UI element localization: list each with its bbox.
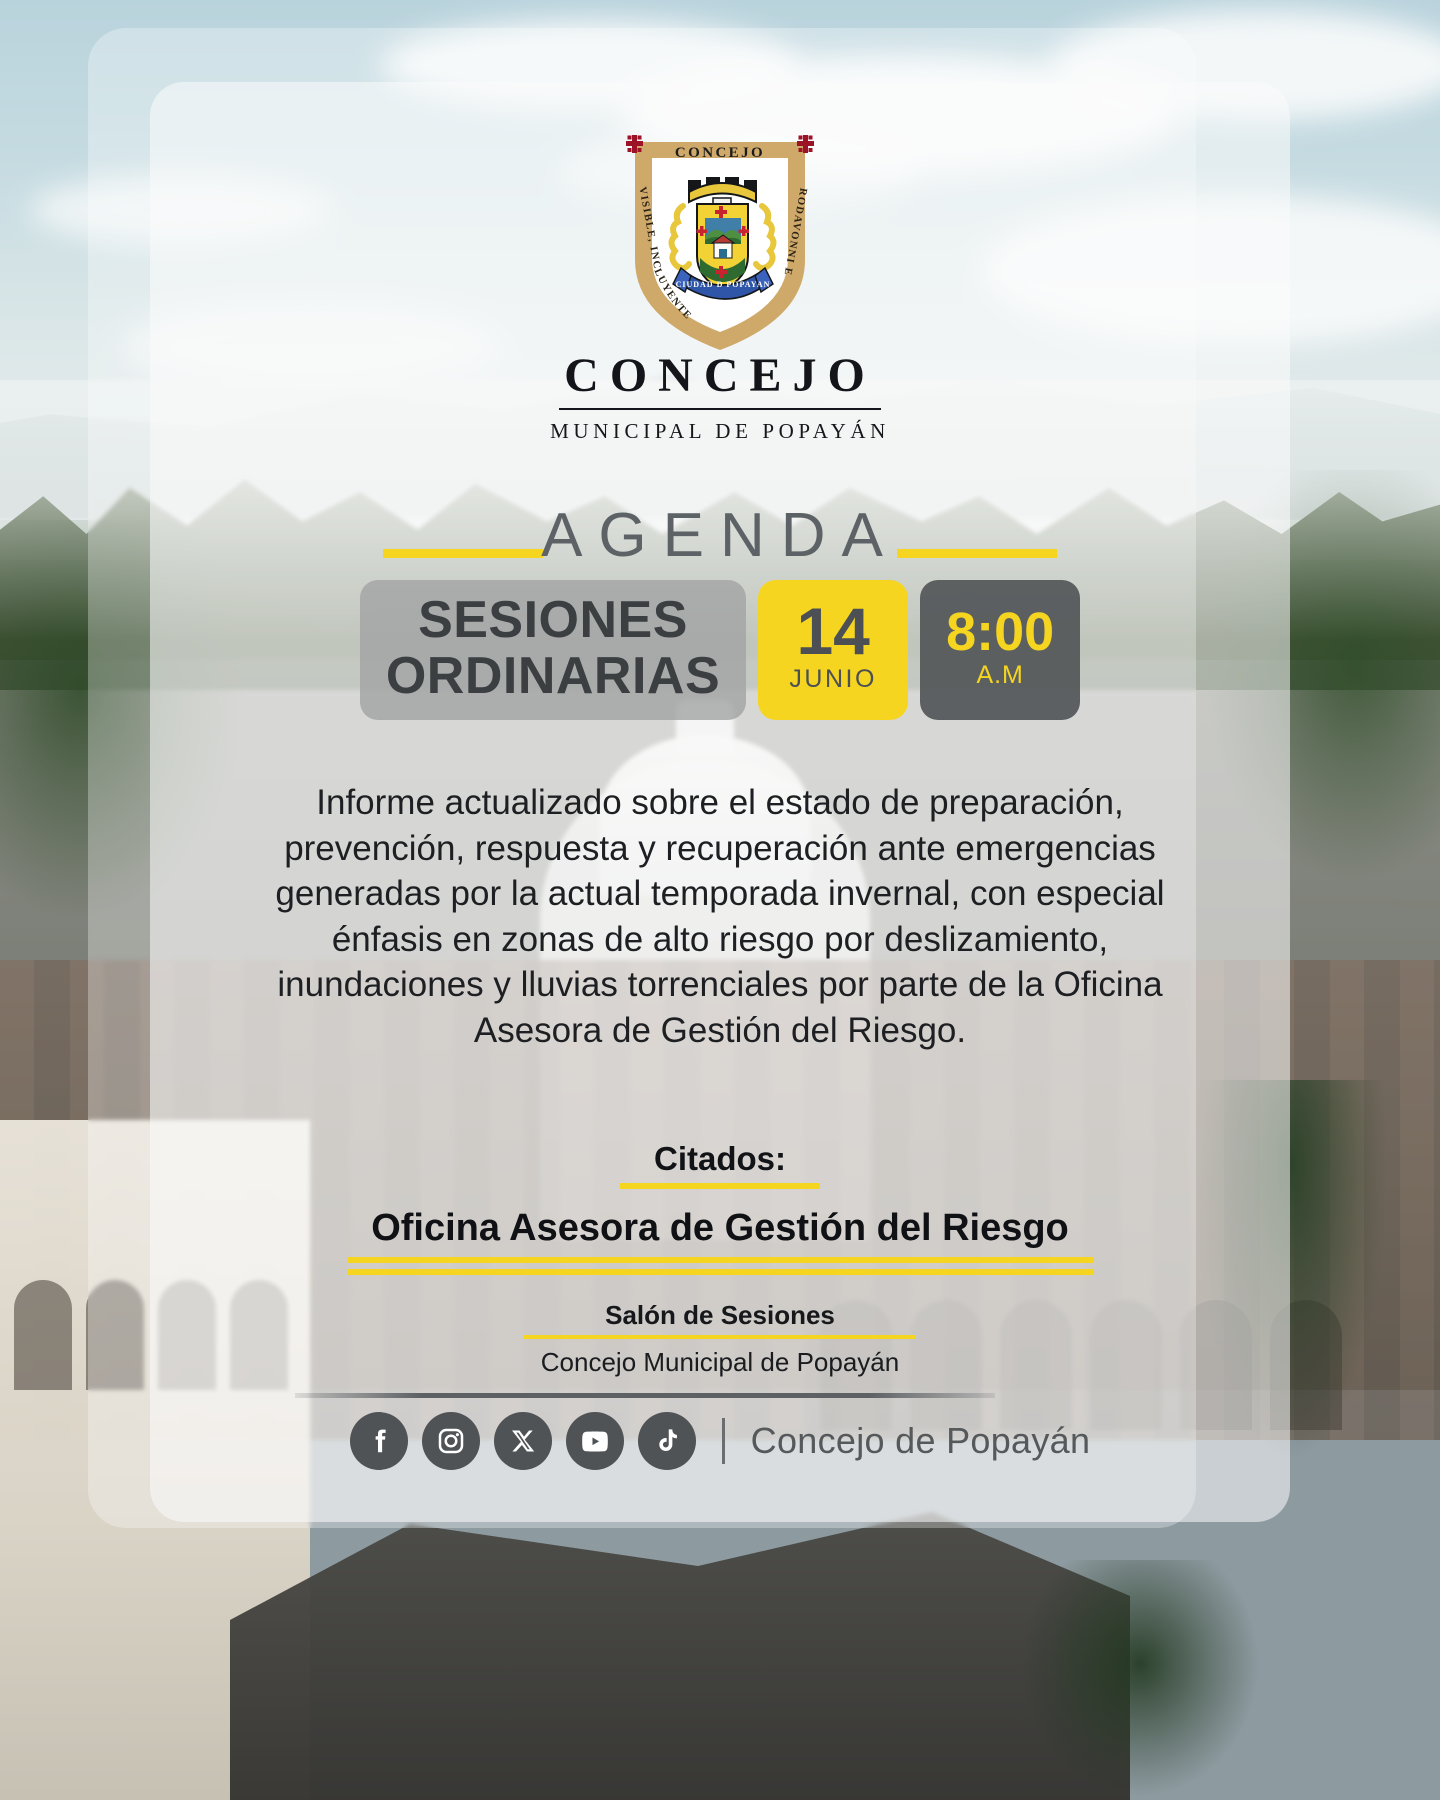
venue-underline [524,1335,916,1339]
agenda-description: Informe actualizado sobre el estado de p… [250,780,1190,1053]
wordmark-main: CONCEJO [0,352,1440,400]
citados-label-underline [620,1183,820,1189]
x-twitter-icon[interactable] [494,1412,552,1470]
date-month: JUNIO [789,665,877,694]
concejo-crest-icon: CONCEJO VISIBLE, INCLUYENTE RODAVONNI E [605,122,835,352]
citados-entity: Oficina Asesora de Gestión del Riesgo [0,1207,1440,1250]
venue-institution: Concejo Municipal de Popayán [0,1347,1440,1378]
instagram-icon[interactable] [422,1412,480,1470]
social-footer: Concejo de Popayán [0,1412,1440,1470]
time-badge: 8:00 A.M [920,580,1080,720]
citados-label: Citados: [654,1140,786,1178]
footer-separator [722,1418,725,1464]
time-value: 8:00 [946,605,1054,659]
wordmark-divider [559,408,881,410]
agenda-heading-row: AGENDA [0,505,1440,567]
youtube-icon[interactable] [566,1412,624,1470]
venue-room: Salón de Sesiones [0,1300,1440,1331]
session-line-2: ORDINARIAS [386,648,720,704]
citados-entity-underline-1 [348,1257,1093,1263]
wordmark-sub: MUNICIPAL DE POPAYÁN [0,419,1440,444]
agenda-heading: AGENDA [537,505,903,567]
agenda-rule-right [897,549,1057,558]
tiktok-icon[interactable] [638,1412,696,1470]
date-day: 14 [796,600,869,663]
citados-section: Citados: Oficina Asesora de Gestión del … [0,1140,1440,1275]
agenda-rule-left [383,549,543,558]
date-badge: 14 JUNIO [758,580,908,720]
session-type-badge: SESIONES ORDINARIAS [360,580,746,720]
footer-handle: Concejo de Popayán [751,1420,1091,1462]
footer-divider [295,1393,995,1398]
session-badges-row: SESIONES ORDINARIAS 14 JUNIO 8:00 A.M [0,580,1440,720]
citados-entity-underline-2 [348,1269,1093,1275]
time-meridiem: A.M [976,661,1023,690]
organization-wordmark: CONCEJO MUNICIPAL DE POPAYÁN [0,352,1440,444]
venue-section: Salón de Sesiones Concejo Municipal de P… [0,1300,1440,1378]
facebook-icon[interactable] [350,1412,408,1470]
session-line-1: SESIONES [386,592,720,648]
svg-text:CONCEJO: CONCEJO [675,145,765,161]
poster-content: CONCEJO VISIBLE, INCLUYENTE RODAVONNI E [0,0,1440,1800]
svg-text:CIUDAD D POPAYAN: CIUDAD D POPAYAN [676,280,771,289]
